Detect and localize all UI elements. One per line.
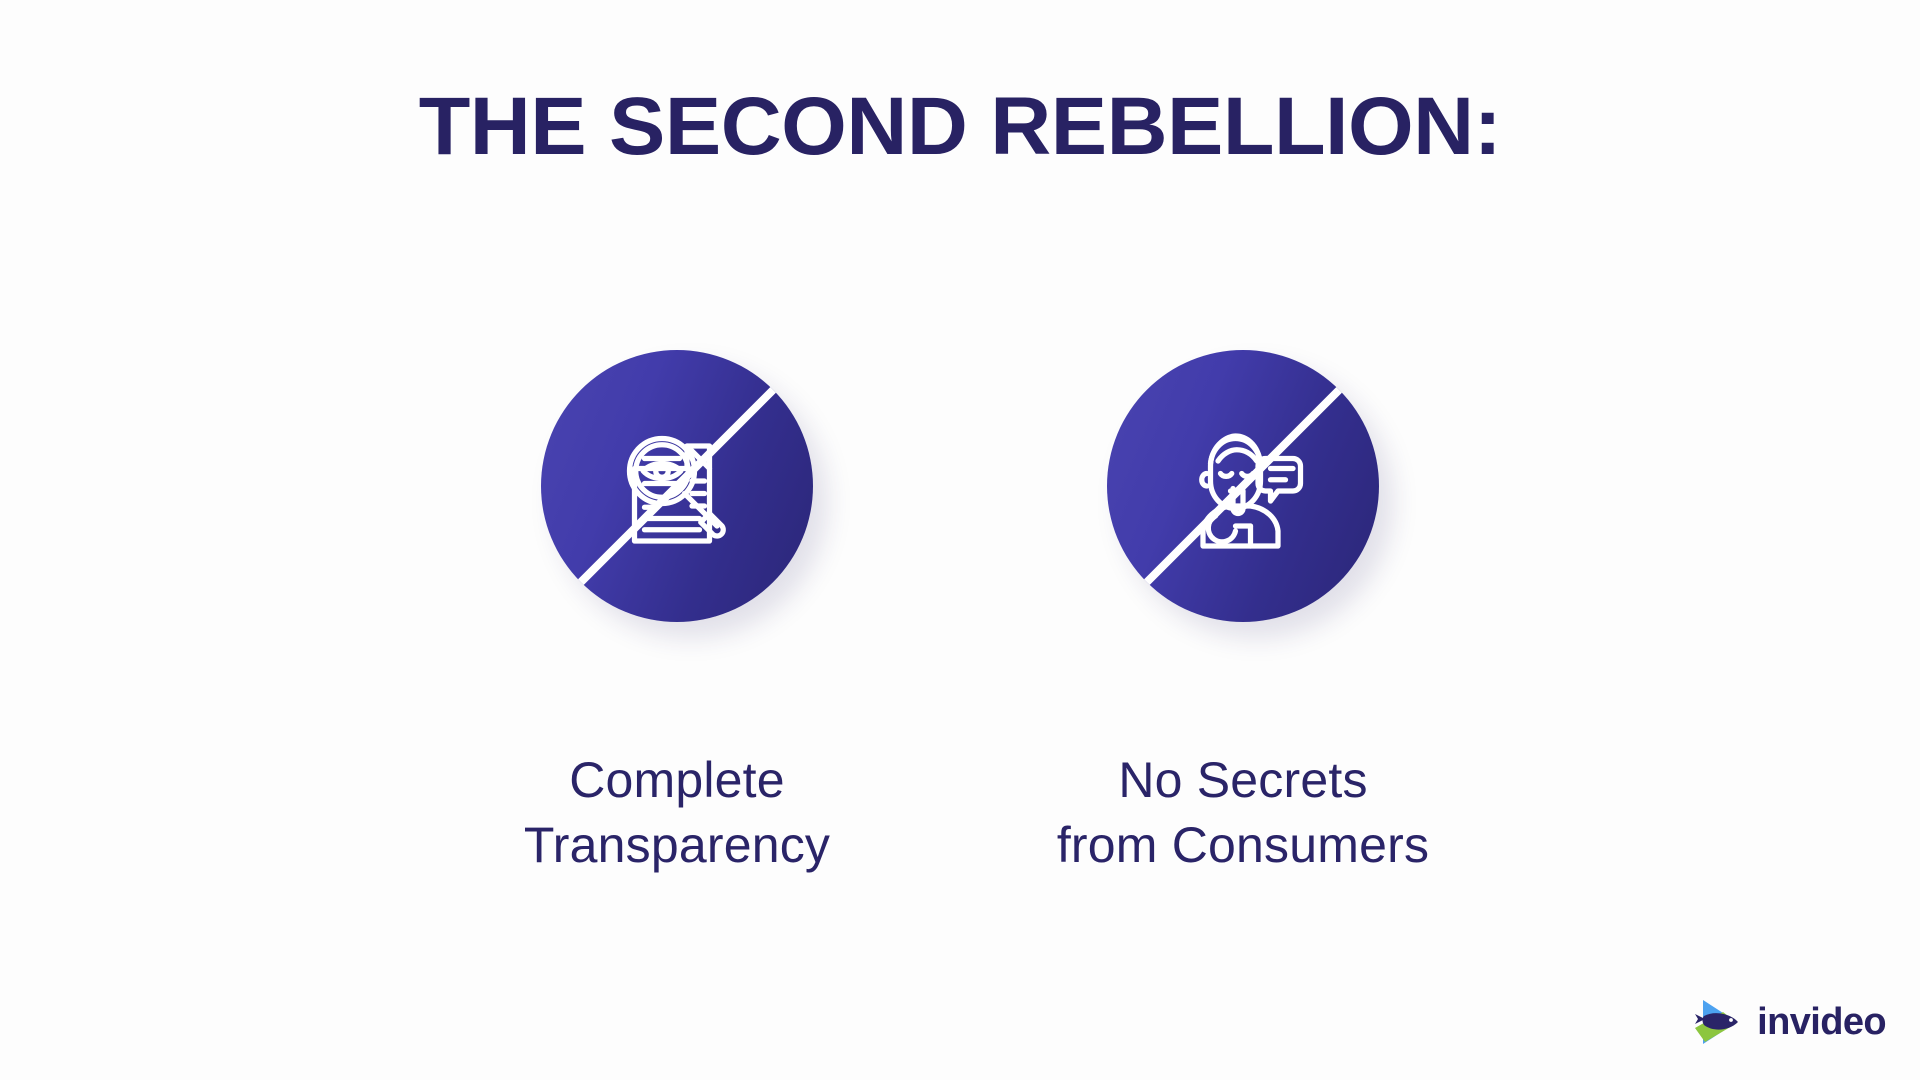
feature-label-line1: No Secrets	[1118, 752, 1367, 808]
badge-no-secrets	[1107, 350, 1379, 622]
page-title: THE SECOND REBELLION:	[0, 86, 1920, 168]
badge-inner	[541, 350, 813, 622]
feature-column-no-secrets: No Secrets from Consumers	[1028, 350, 1458, 878]
badge-inner	[1107, 350, 1379, 622]
invideo-play-mark-icon	[1693, 998, 1745, 1046]
feature-label-transparency: Complete Transparency	[524, 748, 830, 878]
feature-column-transparency: Complete Transparency	[462, 350, 892, 878]
badge-complete-transparency	[541, 350, 813, 622]
invideo-logo: invideo	[1693, 998, 1886, 1046]
feature-columns: Complete Transparency	[0, 350, 1920, 878]
feature-label-no-secrets: No Secrets from Consumers	[1057, 748, 1429, 878]
feature-label-line2: Transparency	[524, 813, 830, 878]
feature-label-line1: Complete	[569, 752, 785, 808]
feature-label-line2: from Consumers	[1057, 813, 1429, 878]
magnifier-eye-document-icon	[602, 411, 752, 561]
invideo-wordmark: invideo	[1757, 1003, 1886, 1041]
slide-canvas: THE SECOND REBELLION:	[0, 0, 1920, 1080]
person-shushing-speech-bubble-icon	[1168, 411, 1318, 561]
